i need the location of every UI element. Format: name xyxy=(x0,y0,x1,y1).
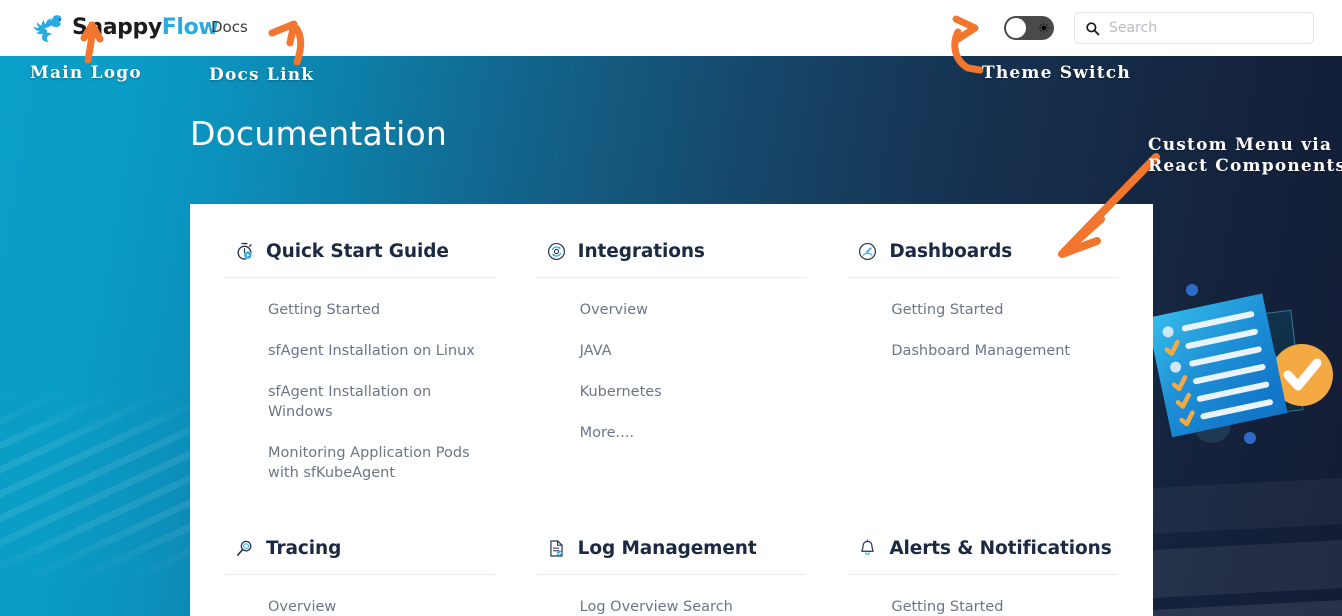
section-links: Getting Started sfAgent Installation on … xyxy=(225,300,495,483)
list-item[interactable]: Log Overview Search xyxy=(580,597,805,616)
section-divider xyxy=(848,574,1118,575)
section-title: Quick Start Guide xyxy=(266,241,449,262)
section-divider xyxy=(537,574,807,575)
logo-text-primary: Snappy xyxy=(72,15,162,40)
nav-link-docs[interactable]: Docs xyxy=(211,18,248,36)
theme-switch-toggle[interactable]: ☀ xyxy=(1004,16,1054,40)
page-root: Documentation xyxy=(0,0,1342,616)
list-item[interactable]: More.... xyxy=(580,423,805,443)
list-item[interactable]: Dashboard Management xyxy=(891,341,1116,361)
section-links: Log Overview Search xyxy=(537,597,807,616)
list-item[interactable]: sfAgent Installation on Windows xyxy=(268,382,493,422)
integrations-icon xyxy=(547,242,566,261)
list-item[interactable]: Overview xyxy=(268,597,493,616)
section-header: Tracing xyxy=(225,533,495,563)
sun-icon: ☀ xyxy=(1037,21,1050,35)
section-header: Alerts & Notifications xyxy=(848,533,1118,563)
section-title: Alerts & Notifications xyxy=(889,538,1111,559)
section-title: Tracing xyxy=(266,538,341,559)
document-icon xyxy=(547,539,566,558)
search-icon xyxy=(1085,21,1100,36)
logo[interactable]: SnappyFlow xyxy=(26,9,218,47)
section-title: Integrations xyxy=(578,241,705,262)
section-links: Getting Started xyxy=(848,597,1118,616)
section-header: Integrations xyxy=(537,236,807,266)
logo-wordmark: SnappyFlow xyxy=(72,17,218,39)
stopwatch-icon xyxy=(235,242,254,261)
page-title: Documentation xyxy=(190,114,447,153)
list-item[interactable]: JAVA xyxy=(580,341,805,361)
section-divider xyxy=(537,277,807,278)
section-log-management: Log Management Log Overview Search xyxy=(537,533,807,616)
list-item[interactable]: Monitoring Application Pods with sfKubeA… xyxy=(268,443,493,483)
section-divider xyxy=(848,277,1118,278)
section-title: Log Management xyxy=(578,538,757,559)
rabbit-logo-icon xyxy=(26,11,68,45)
magnifier-icon xyxy=(235,539,254,558)
list-item[interactable]: Kubernetes xyxy=(580,382,805,402)
list-item[interactable]: Overview xyxy=(580,300,805,320)
theme-switch-knob xyxy=(1006,18,1026,38)
gauge-icon xyxy=(858,242,877,261)
section-title: Dashboards xyxy=(889,241,1012,262)
section-divider xyxy=(225,574,495,575)
list-item[interactable]: Getting Started xyxy=(891,300,1116,320)
section-links: Overview JAVA Kubernetes More.... xyxy=(537,300,807,443)
list-item[interactable]: Getting Started xyxy=(268,300,493,320)
list-item[interactable]: sfAgent Installation on Linux xyxy=(268,341,493,361)
search-box[interactable] xyxy=(1074,12,1314,44)
section-tracing: Tracing Overview xyxy=(225,533,495,616)
section-header: Dashboards xyxy=(848,236,1118,266)
list-item[interactable]: Getting Started xyxy=(891,597,1116,616)
section-header: Log Management xyxy=(537,533,807,563)
search-input[interactable] xyxy=(1109,20,1303,36)
section-alerts-notifications: Alerts & Notifications Getting Started xyxy=(848,533,1118,616)
section-links: Overview xyxy=(225,597,495,616)
sections-grid: Quick Start Guide Getting Started sfAgen… xyxy=(190,204,1153,616)
logo-text-accent: Flow xyxy=(162,15,218,40)
bell-icon xyxy=(858,539,877,558)
documentation-card: Quick Start Guide Getting Started sfAgen… xyxy=(190,204,1153,616)
section-quick-start-guide: Quick Start Guide Getting Started sfAgen… xyxy=(225,236,495,483)
section-links: Getting Started Dashboard Management xyxy=(848,300,1118,361)
section-dashboards: Dashboards Getting Started Dashboard Man… xyxy=(848,236,1118,483)
section-integrations: Integrations Overview JAVA Kubernetes Mo… xyxy=(537,236,807,483)
top-navbar: SnappyFlow Docs ☀ xyxy=(0,0,1342,56)
section-header: Quick Start Guide xyxy=(225,236,495,266)
section-divider xyxy=(225,277,495,278)
